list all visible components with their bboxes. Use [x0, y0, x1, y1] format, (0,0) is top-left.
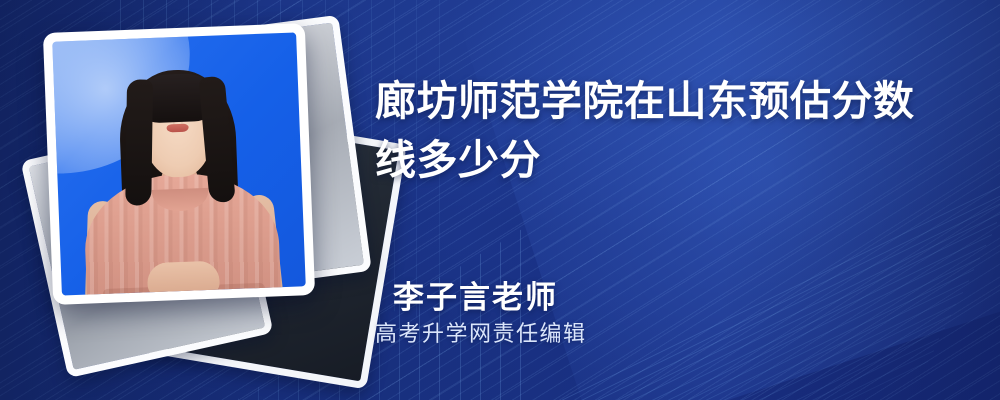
hands: [147, 261, 220, 296]
teacher-portrait-photo: [52, 32, 306, 295]
byline: 李子言老师 高考升学网责任编辑: [375, 281, 955, 348]
article-header-banner: 廊坊师范学院在山东预估分数线多少分 李子言老师 高考升学网责任编辑: [0, 0, 1000, 400]
teacher-portrait-card: [43, 23, 315, 305]
page-title: 廊坊师范学院在山东预估分数线多少分: [375, 72, 955, 190]
author-name: 李子言老师: [393, 281, 955, 315]
banner-text-content: 廊坊师范学院在山东预估分数线多少分 李子言老师 高考升学网责任编辑: [375, 0, 975, 400]
portrait-figure: [52, 32, 306, 295]
author-role: 高考升学网责任编辑: [375, 322, 955, 348]
photo-card-stack: [48, 28, 378, 373]
hair-strand-left: [125, 79, 153, 205]
mouth: [166, 123, 188, 132]
